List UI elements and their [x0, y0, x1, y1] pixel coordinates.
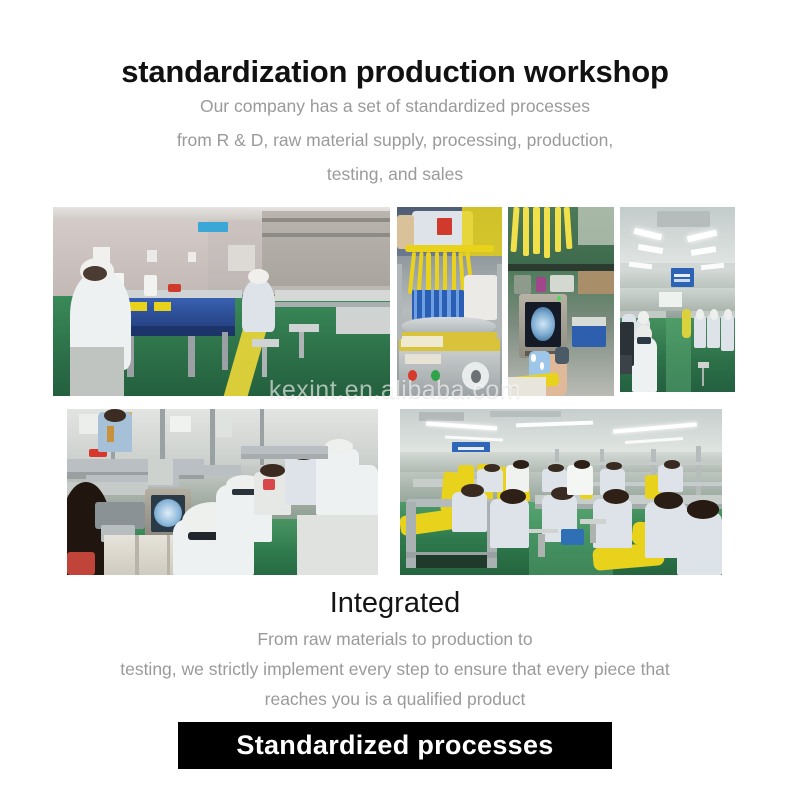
header-line-3: testing, and sales: [0, 166, 790, 184]
page-title: standardization production workshop: [0, 55, 790, 89]
header-line-1: Our company has a set of standardized pr…: [0, 98, 790, 116]
footer-line-1: From raw materials to production to: [0, 631, 790, 649]
footer-line-2: testing, we strictly implement every ste…: [0, 661, 790, 679]
footer-title: Integrated: [0, 588, 790, 620]
photo-production-floor: [400, 409, 722, 575]
photo-assembly-line: [620, 207, 735, 392]
footer-line-3: reaches you is a qualified product: [0, 691, 790, 709]
standardized-processes-banner: Standardized processes: [178, 722, 612, 769]
banner-label: Standardized processes: [236, 730, 553, 761]
photo-curing-oven: [397, 207, 502, 396]
photo-microscope-inspection: [508, 207, 614, 396]
header-line-2: from R & D, raw material supply, process…: [0, 132, 790, 150]
photo-workshop-aisle: [53, 207, 390, 396]
promo-page: standardization production workshop Our …: [0, 0, 790, 790]
photo-testing-area: [67, 409, 378, 575]
